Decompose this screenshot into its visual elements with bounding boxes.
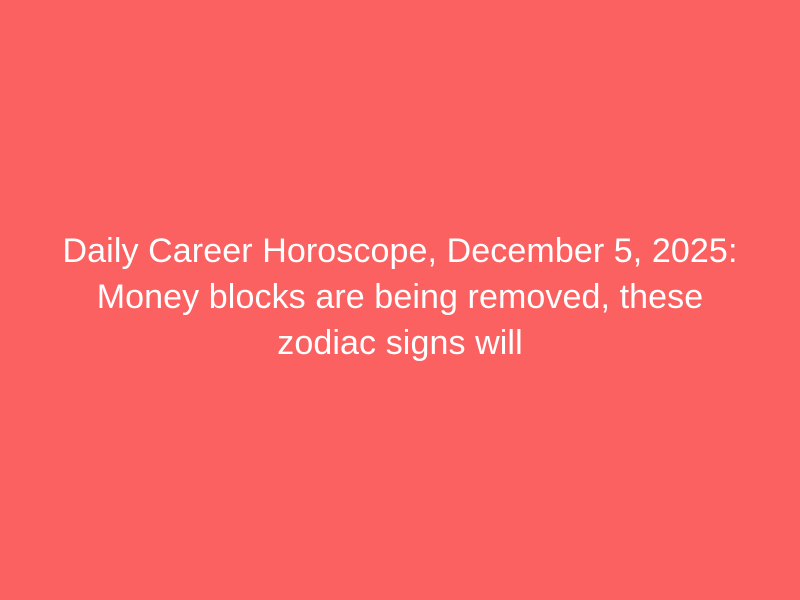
- headline-block: Daily Career Horoscope, December 5, 2025…: [0, 228, 800, 366]
- page-title: Daily Career Horoscope, December 5, 2025…: [55, 228, 745, 366]
- article-placeholder-card: Daily Career Horoscope, December 5, 2025…: [0, 0, 800, 600]
